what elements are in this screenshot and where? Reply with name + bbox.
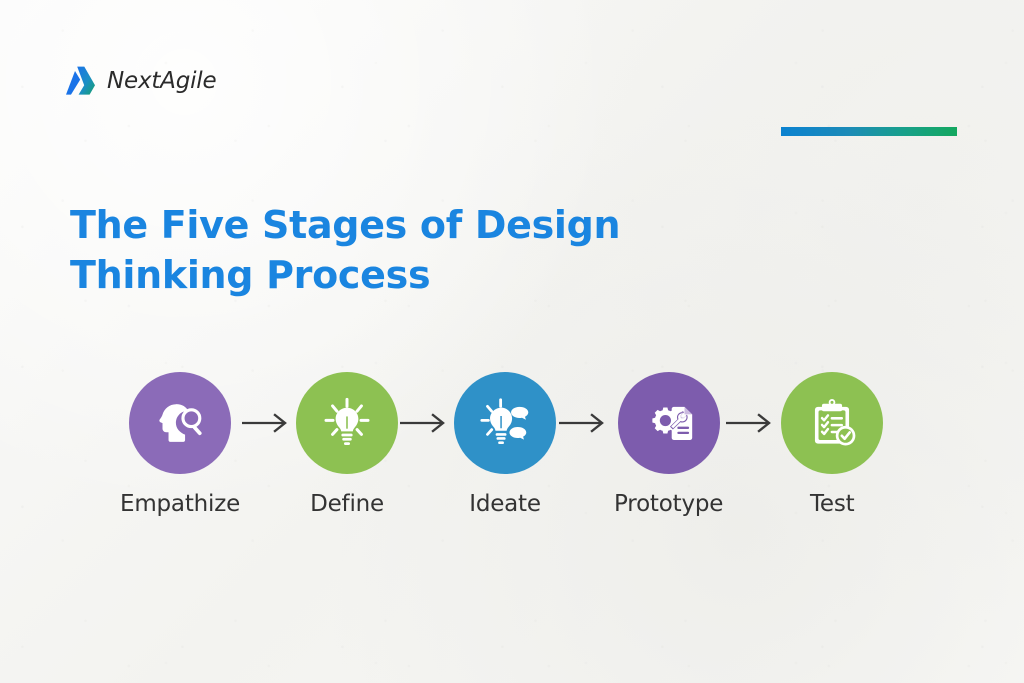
stage-prototype[interactable]: Prototype xyxy=(614,372,723,517)
arrow-right-icon-1 xyxy=(240,372,296,474)
arrow-right-icon-4 xyxy=(723,372,781,474)
brand-name: NextAgile xyxy=(107,68,216,94)
stage-ideate-circle[interactable] xyxy=(454,372,556,474)
gear-document-wrench-icon xyxy=(641,395,697,451)
clipboard-checklist-check-icon xyxy=(804,395,860,451)
stage-test-circle[interactable] xyxy=(781,372,883,474)
arrow-right-icon-3 xyxy=(556,372,614,474)
stage-empathize[interactable]: Empathize xyxy=(120,372,240,517)
stage-define-circle[interactable] xyxy=(296,372,398,474)
lightbulb-speech-bubbles-icon xyxy=(477,395,533,451)
design-thinking-process: Empathize xyxy=(120,372,910,517)
stage-define[interactable]: Define xyxy=(296,372,398,517)
nextagile-arrow-logo-icon xyxy=(64,64,98,98)
stage-ideate[interactable]: Ideate xyxy=(454,372,556,517)
stage-prototype-label: Prototype xyxy=(614,491,723,517)
lightbulb-rays-icon xyxy=(319,395,375,451)
arrow-right-icon-2 xyxy=(398,372,454,474)
head-with-magnifier-icon xyxy=(152,395,208,451)
accent-bar xyxy=(781,127,957,136)
page-title: The Five Stages of Design Thinking Proce… xyxy=(70,200,690,300)
stage-test-label: Test xyxy=(810,491,855,517)
stage-ideate-label: Ideate xyxy=(469,491,541,517)
stage-test[interactable]: Test xyxy=(781,372,883,517)
slide-canvas: NextAgile The Five Stages of Design Thin… xyxy=(0,0,1024,683)
stage-prototype-circle[interactable] xyxy=(618,372,720,474)
stage-empathize-label: Empathize xyxy=(120,491,240,517)
brand-logo[interactable]: NextAgile xyxy=(64,64,216,98)
stage-define-label: Define xyxy=(310,491,384,517)
stage-empathize-circle[interactable] xyxy=(129,372,231,474)
